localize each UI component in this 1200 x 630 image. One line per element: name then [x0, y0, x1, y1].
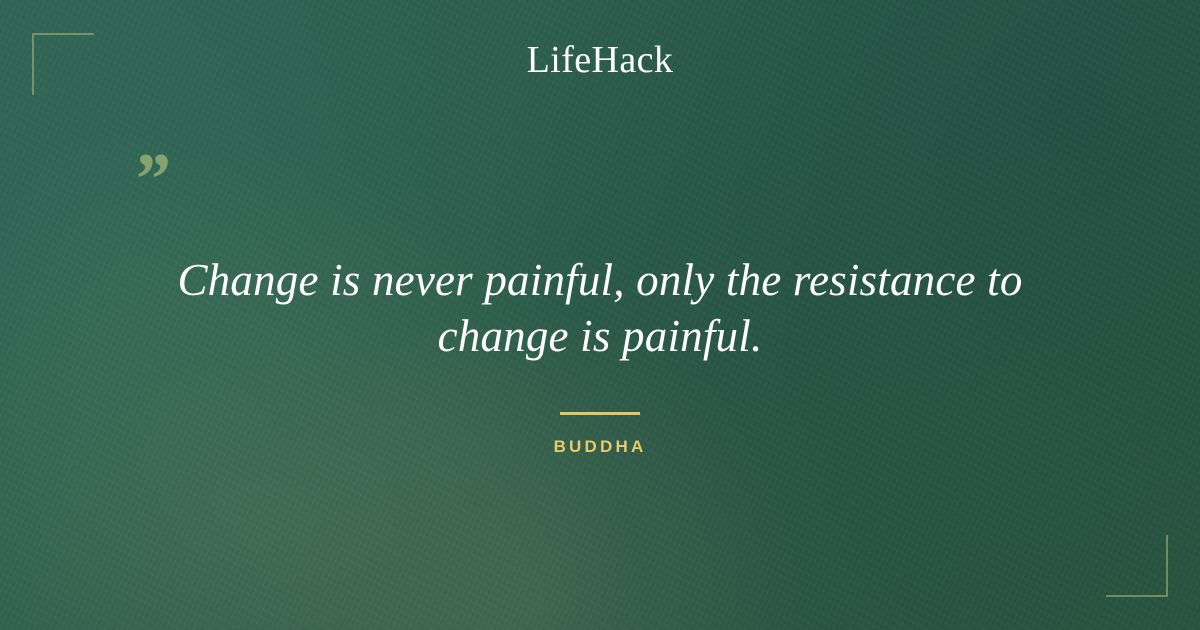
attribution-author: BUDDHA: [100, 437, 1100, 457]
quote-block: ” Change is never painful, only the resi…: [100, 160, 1100, 457]
quote-card: LifeHack ” Change is never painful, only…: [0, 0, 1200, 630]
quotation-mark-icon: ”: [100, 160, 1100, 212]
attribution-divider: [560, 412, 640, 415]
brand-logo: LifeHack: [0, 38, 1200, 82]
quote-text: Change is never painful, only the resist…: [100, 252, 1100, 364]
corner-bracket-bottom-right-icon: [1106, 535, 1168, 597]
